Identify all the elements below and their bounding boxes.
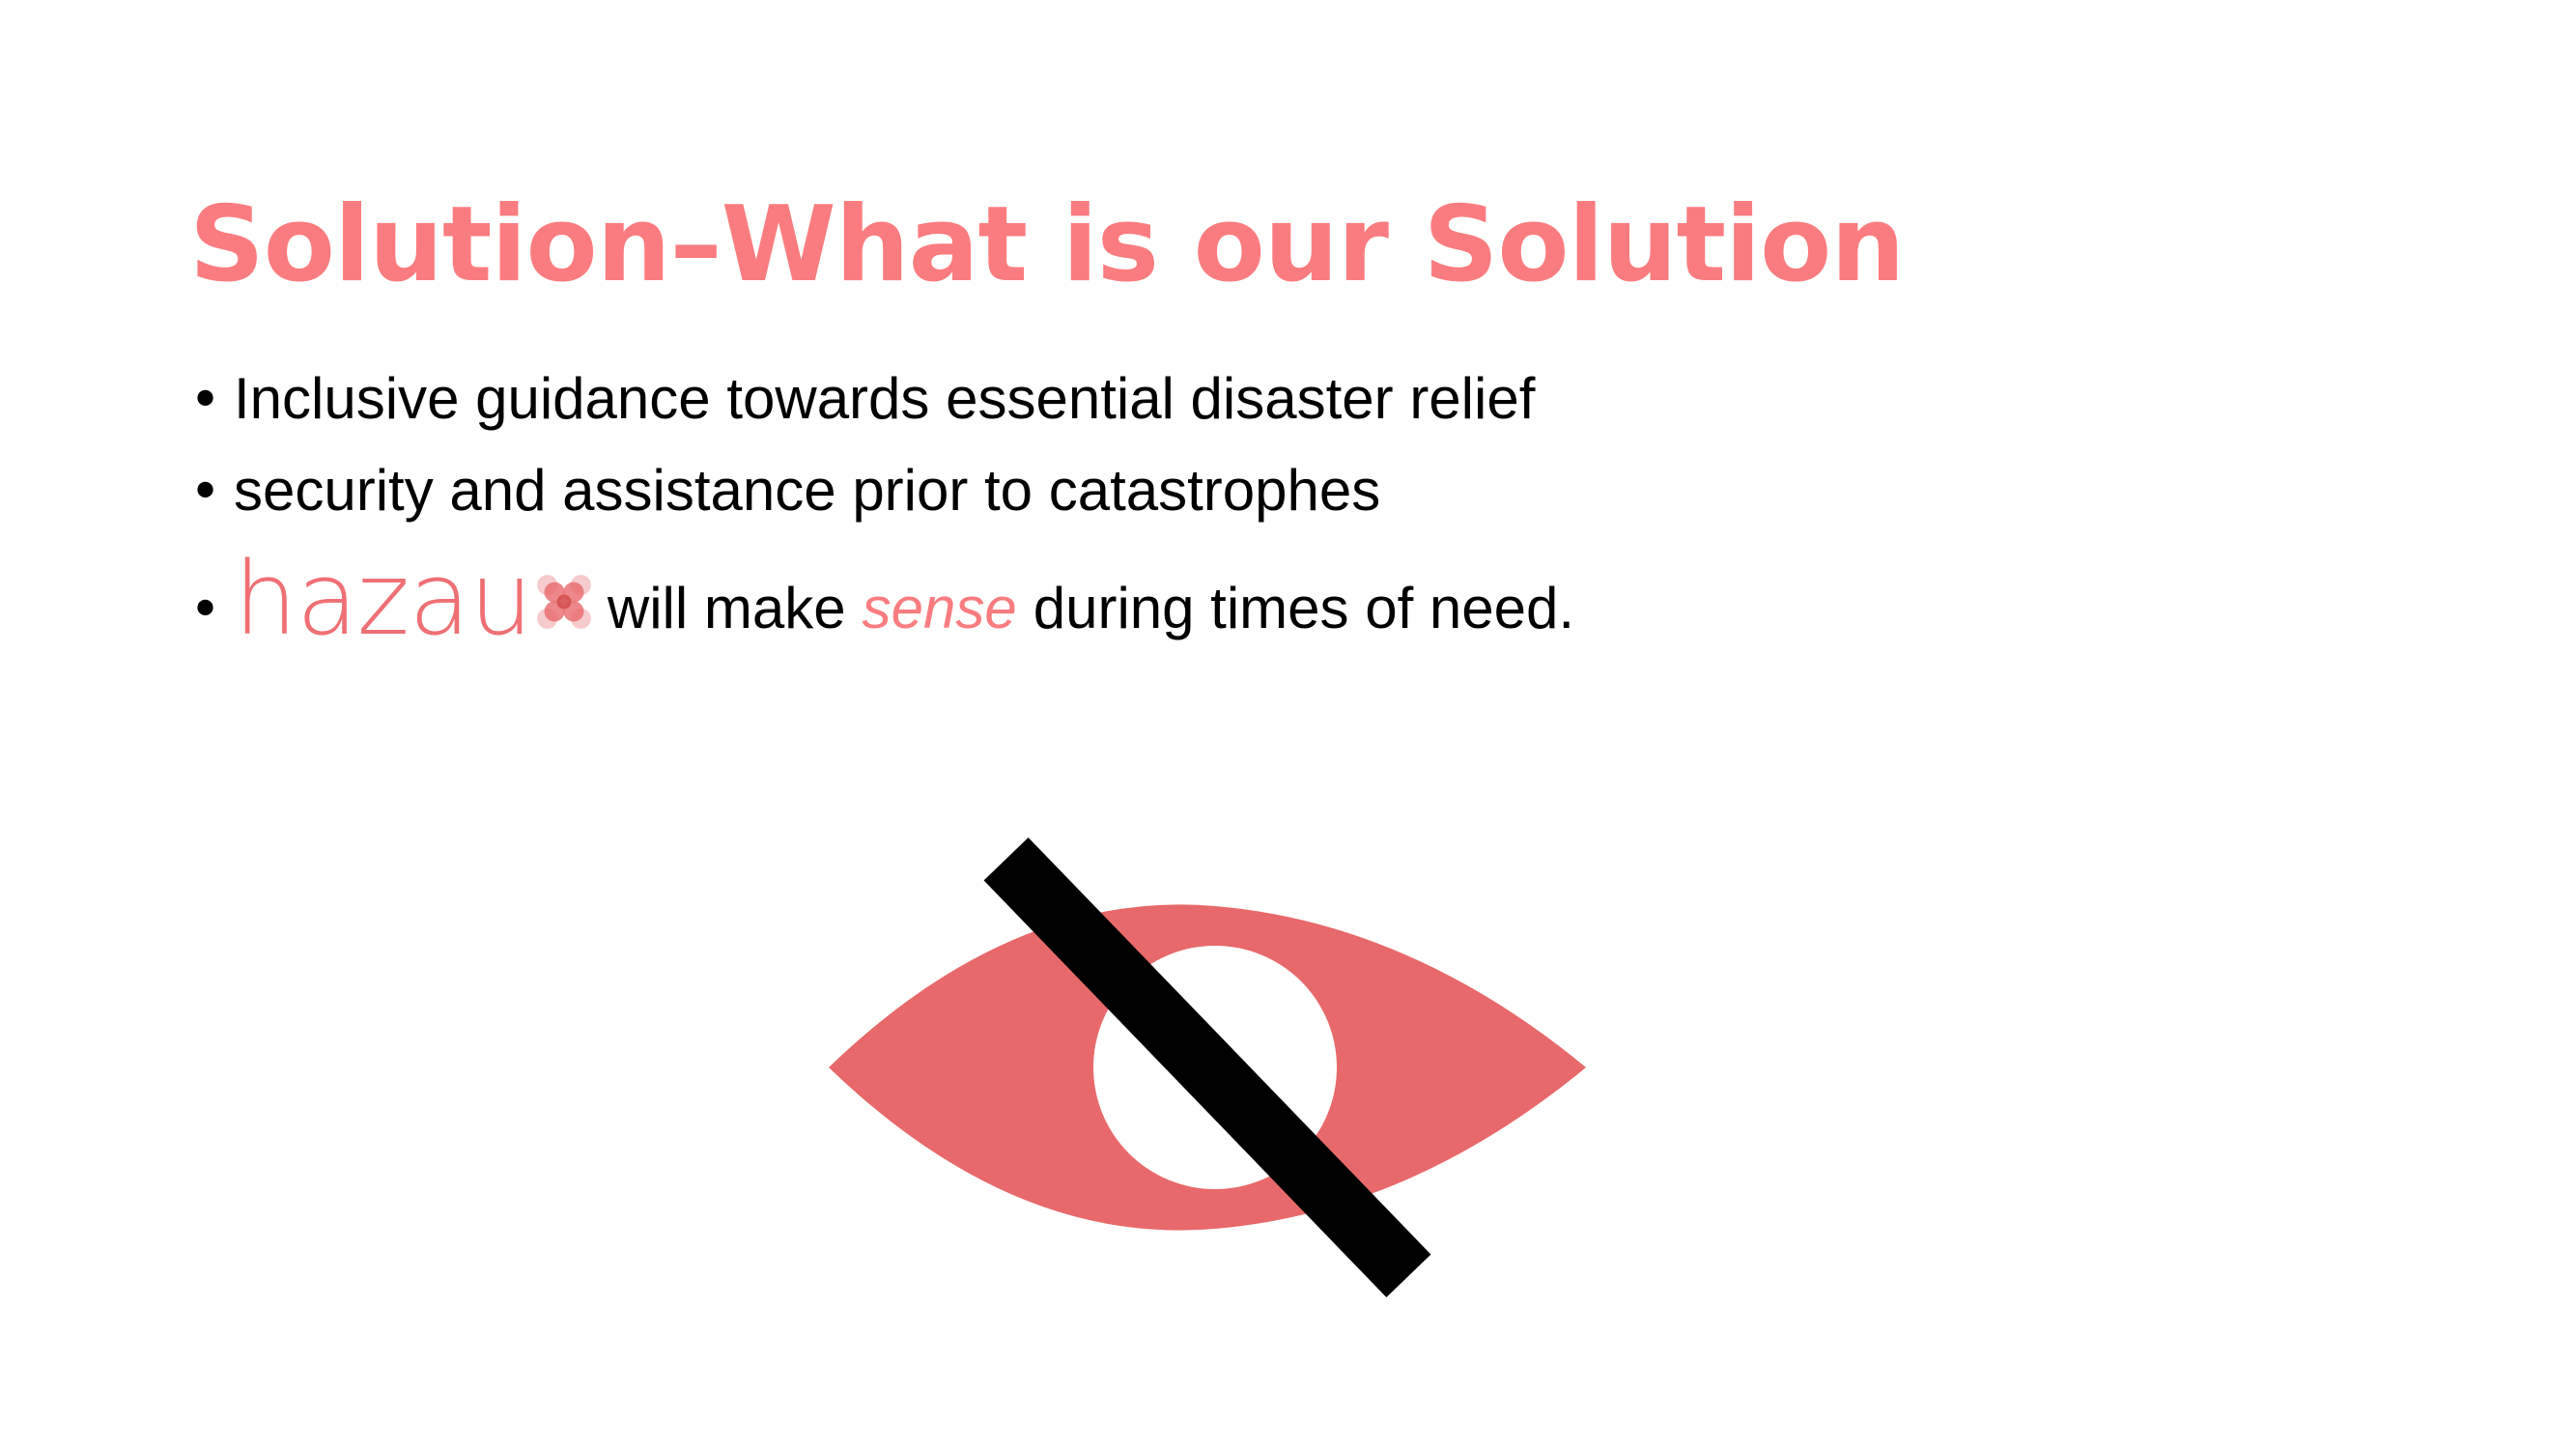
page-title: Solution–What is our Solution [189, 193, 2392, 298]
bullet-text: security and assistance prior to catastr… [234, 457, 1380, 526]
list-item: • Inclusive guidance towards essential d… [189, 365, 2411, 434]
bullet-marker-icon: • [189, 583, 234, 638]
list-item: • hazau will make [189, 549, 2411, 641]
bullet-text-tail: during times of need. [1033, 575, 1574, 641]
bullet-marker-icon: • [189, 374, 234, 428]
bullet-text: Inclusive guidance towards essential dis… [234, 365, 1535, 434]
slide-canvas: Solution–What is our Solution • Inclusiv… [0, 0, 2576, 1449]
bullet-marker-icon: • [189, 466, 234, 520]
eye-off-illustration [811, 816, 1603, 1319]
bullet-accent-word: sense [863, 575, 1017, 641]
hazaux-logo-wordmark: hazau [234, 554, 532, 645]
bullet-list: • Inclusive guidance towards essential d… [189, 365, 2411, 665]
hazaux-x-mark-icon [534, 572, 594, 632]
list-item: • security and assistance prior to catas… [189, 457, 2411, 526]
bullet-text-segment: will make [608, 575, 846, 641]
